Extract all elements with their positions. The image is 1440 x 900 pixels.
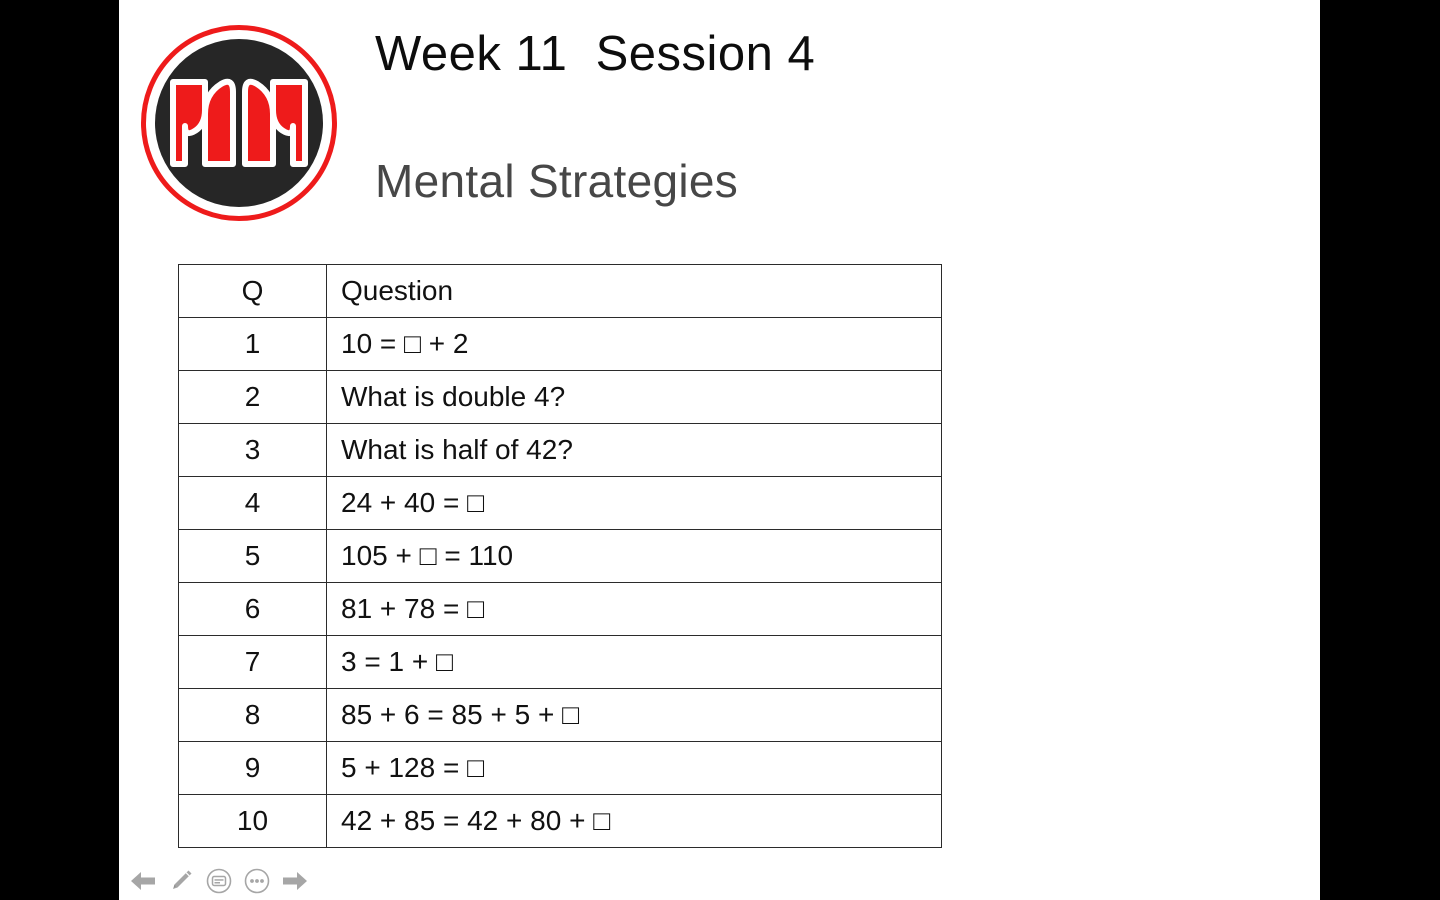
nn-letters-icon — [165, 68, 313, 178]
row-number: 4 — [179, 477, 327, 530]
arrow-left-icon — [130, 870, 156, 892]
table-header-row: Q Question — [179, 265, 942, 318]
row-number: 3 — [179, 424, 327, 477]
table-row: 5 105 + □ = 110 — [179, 530, 942, 583]
row-number: 9 — [179, 742, 327, 795]
row-question: 24 + 40 = □ — [327, 477, 942, 530]
presentation-stage: Week 11 Session 4 Mental Strategies Q Qu… — [0, 0, 1440, 900]
table-row: 3 What is half of 42? — [179, 424, 942, 477]
table-row: 8 85 + 6 = 85 + 5 + □ — [179, 689, 942, 742]
row-number: 6 — [179, 583, 327, 636]
slide-title: Week 11 Session 4 — [375, 26, 815, 82]
row-question: 10 = □ + 2 — [327, 318, 942, 371]
row-question: 5 + 128 = □ — [327, 742, 942, 795]
table-body: 1 10 = □ + 2 2 What is double 4? 3 What … — [179, 318, 942, 848]
row-question: 81 + 78 = □ — [327, 583, 942, 636]
table-row: 10 42 + 85 = 42 + 80 + □ — [179, 795, 942, 848]
column-header-question: Question — [327, 265, 942, 318]
questions-table-wrapper: Q Question 1 10 = □ + 2 2 What is double… — [178, 264, 941, 848]
pen-tool[interactable] — [166, 866, 196, 896]
captions-toggle[interactable] — [204, 866, 234, 896]
row-number: 5 — [179, 530, 327, 583]
captions-icon — [206, 868, 232, 894]
nn-logo — [141, 25, 337, 221]
letterbox-left — [0, 0, 119, 900]
table-row: 2 What is double 4? — [179, 371, 942, 424]
arrow-right-icon — [282, 870, 308, 892]
previous-slide-arrow[interactable] — [128, 866, 158, 896]
logo-disc — [155, 39, 323, 207]
row-number: 1 — [179, 318, 327, 371]
ellipsis-icon — [244, 868, 270, 894]
row-question: 3 = 1 + □ — [327, 636, 942, 689]
table-row: 9 5 + 128 = □ — [179, 742, 942, 795]
row-number: 7 — [179, 636, 327, 689]
slide-canvas: Week 11 Session 4 Mental Strategies Q Qu… — [119, 0, 1320, 900]
slide-toolbar — [128, 866, 310, 896]
slide-header: Week 11 Session 4 Mental Strategies — [119, 0, 1320, 240]
row-number: 2 — [179, 371, 327, 424]
row-number: 8 — [179, 689, 327, 742]
row-number: 10 — [179, 795, 327, 848]
row-question: 42 + 85 = 42 + 80 + □ — [327, 795, 942, 848]
letterbox-right — [1320, 0, 1440, 900]
row-question: What is half of 42? — [327, 424, 942, 477]
row-question: 105 + □ = 110 — [327, 530, 942, 583]
slide-subtitle: Mental Strategies — [375, 155, 738, 208]
table-row: 4 24 + 40 = □ — [179, 477, 942, 530]
table-row: 1 10 = □ + 2 — [179, 318, 942, 371]
column-header-q: Q — [179, 265, 327, 318]
row-question: What is double 4? — [327, 371, 942, 424]
row-question: 85 + 6 = 85 + 5 + □ — [327, 689, 942, 742]
table-row: 6 81 + 78 = □ — [179, 583, 942, 636]
questions-table: Q Question 1 10 = □ + 2 2 What is double… — [178, 264, 942, 848]
pencil-icon — [169, 869, 193, 893]
more-options[interactable] — [242, 866, 272, 896]
next-slide-arrow[interactable] — [280, 866, 310, 896]
table-row: 7 3 = 1 + □ — [179, 636, 942, 689]
